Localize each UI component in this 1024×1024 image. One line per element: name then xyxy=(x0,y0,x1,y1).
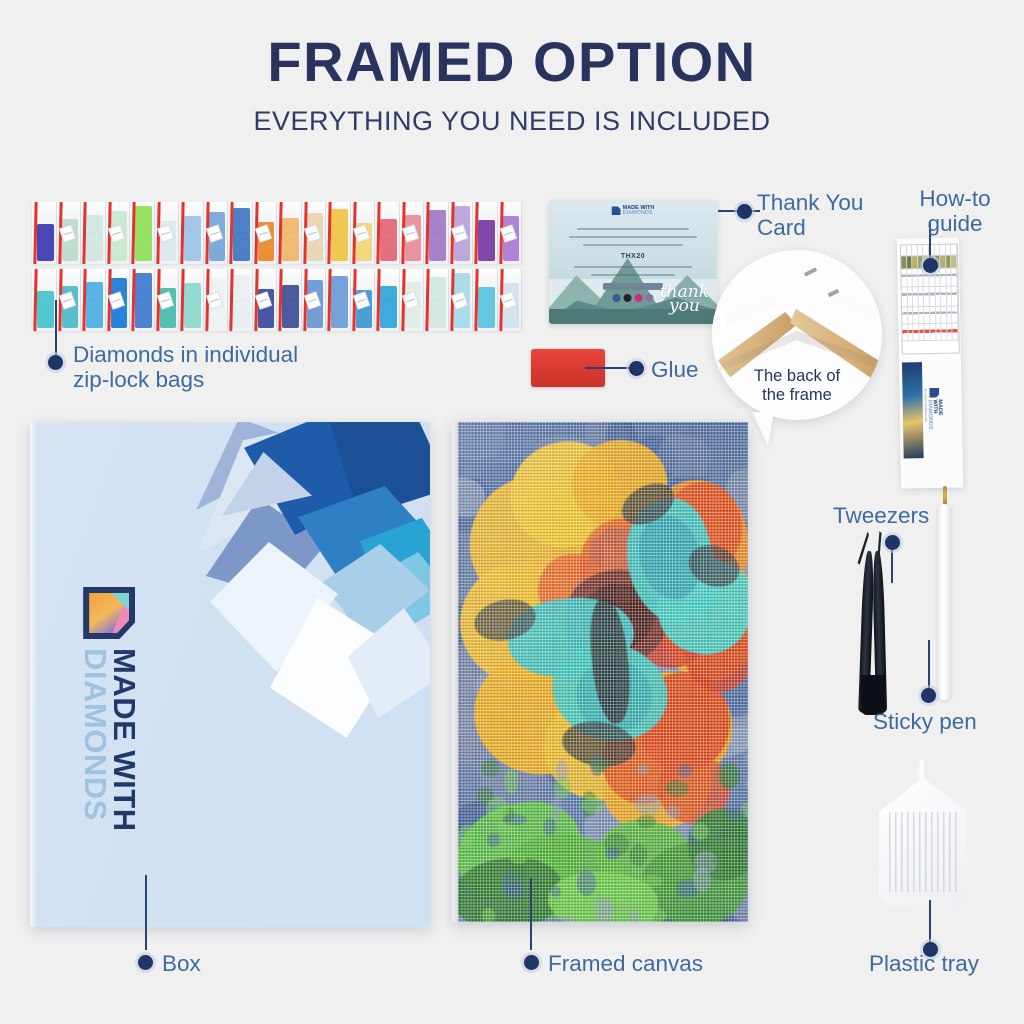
guide-table-cell xyxy=(951,245,957,255)
guide-table-cell xyxy=(952,269,958,286)
zip-lock-bag xyxy=(57,269,82,331)
zip-lock-bag xyxy=(498,202,523,264)
zip-lock-bag xyxy=(375,202,400,264)
callout-label-box: Box xyxy=(162,951,201,976)
zip-lock-bag xyxy=(498,269,523,331)
callout-label-thank-you: Thank You Card xyxy=(757,190,897,240)
card-text-line-5 xyxy=(591,274,675,276)
zip-lock-bag xyxy=(351,269,376,331)
guide-table-row xyxy=(902,287,958,308)
sticky-pen xyxy=(938,486,958,706)
callout-label-tray: Plastic tray xyxy=(869,951,979,976)
diamond-logo-icon xyxy=(929,388,939,398)
instagram-icon xyxy=(635,294,643,302)
callout-label-canvas: Framed canvas xyxy=(548,951,703,976)
zip-lock-bag xyxy=(81,202,106,264)
guide-table-cell xyxy=(953,324,959,340)
zip-lock-bag xyxy=(302,269,327,331)
box-brand-line1: MADE WITH xyxy=(109,648,138,832)
zip-lock-bag xyxy=(473,269,498,331)
callout-dot-tweezers xyxy=(885,535,900,550)
infographic-canvas: FRAMED OPTION EVERYTHING YOU NEED IS INC… xyxy=(0,0,1024,1024)
diamond-logo-icon xyxy=(612,206,621,215)
zip-lock-bag xyxy=(424,202,449,264)
zip-lock-bag xyxy=(253,269,278,331)
pinterest-icon xyxy=(646,294,654,302)
zip-lock-bag xyxy=(302,202,327,264)
zip-lock-bag xyxy=(277,269,302,331)
zip-lock-bag xyxy=(473,202,498,264)
zip-lock-bag xyxy=(32,202,57,264)
diamond-logo-icon xyxy=(83,587,135,639)
zip-lock-bag xyxy=(155,269,180,331)
guide-handle: @madewithdiamonds xyxy=(923,388,928,422)
leader-line-glue xyxy=(585,367,633,369)
how-to-guide: MADE WITH DIAMONDS @madewithdiamonds xyxy=(897,237,963,488)
callout-label-glue: Glue xyxy=(651,357,699,382)
zip-lock-bag xyxy=(449,269,474,331)
callout-dot-thank-you xyxy=(737,204,752,219)
plastic-tray xyxy=(876,760,976,920)
product-box: MADE WITH DIAMONDS xyxy=(30,422,430,927)
zip-lock-bag xyxy=(400,269,425,331)
callout-label-diamonds: Diamonds in individual zip-lock bags xyxy=(73,342,373,392)
callout-label-sticky-pen: Sticky pen xyxy=(873,709,977,734)
leader-line-tweezers xyxy=(891,545,893,583)
guide-brand-line1: MADE WITH xyxy=(932,399,942,430)
leader-line-canvas xyxy=(530,878,532,950)
box-brand-line2: DIAMONDS xyxy=(80,648,109,832)
guide-table-cell xyxy=(952,307,958,323)
guide-table-row xyxy=(902,307,958,325)
thank-you-card: MADE WITH DIAMONDS THX20 thankyou xyxy=(549,200,717,324)
guide-table-row xyxy=(902,323,958,341)
zip-lock-bag xyxy=(326,202,351,264)
zip-lock-bag xyxy=(400,202,425,264)
zip-lock-bag xyxy=(253,202,278,264)
leader-line-diamonds xyxy=(55,300,57,358)
zip-lock-bag xyxy=(228,202,253,264)
zip-lock-bag xyxy=(57,202,82,264)
card-brand-logo: MADE WITH DIAMONDS xyxy=(612,206,655,216)
card-promo-code: THX20 xyxy=(621,253,645,260)
zip-lock-bag xyxy=(130,202,155,264)
framed-canvas xyxy=(452,422,748,922)
zip-lock-bag xyxy=(351,202,376,264)
zip-lock-bag xyxy=(228,269,253,331)
zip-lock-bag xyxy=(277,202,302,264)
zip-lock-bag xyxy=(106,202,131,264)
zip-lock-bag xyxy=(326,269,351,331)
zip-lock-bag xyxy=(375,269,400,331)
frame-back-label: The back of the frame xyxy=(712,367,882,404)
zip-lock-bag xyxy=(204,202,229,264)
card-text-line-4 xyxy=(574,266,692,268)
guide-artwork-thumbnail xyxy=(902,362,924,458)
card-social-icons xyxy=(613,294,654,302)
tweezers xyxy=(855,525,915,715)
page-subtitle: EVERYTHING YOU NEED IS INCLUDED xyxy=(0,108,1024,135)
callout-dot-sticky-pen xyxy=(921,688,936,703)
guide-table-cell xyxy=(952,287,958,306)
box-brand-logo: MADE WITH DIAMONDS xyxy=(80,587,138,832)
facebook-icon xyxy=(613,294,621,302)
card-thank-you-script: thankyou xyxy=(660,286,709,314)
card-text-line-2 xyxy=(569,236,697,238)
zip-lock-bag xyxy=(81,269,106,331)
card-handle-pill xyxy=(603,283,663,290)
callout-dot-canvas xyxy=(524,955,539,970)
zip-lock-bag-row-2 xyxy=(32,269,522,331)
leader-line-box xyxy=(145,875,147,950)
callout-label-tweezers: Tweezers xyxy=(833,503,929,528)
zip-lock-bag-row-1 xyxy=(32,202,522,264)
card-brand-line2: DIAMONDS xyxy=(623,211,655,216)
card-text-line-1 xyxy=(577,228,689,230)
callout-label-how-to: How-to guide xyxy=(890,186,1020,236)
leader-line-tray xyxy=(929,900,931,945)
callout-dot-box xyxy=(138,955,153,970)
zip-lock-bag xyxy=(179,202,204,264)
page-title: FRAMED OPTION xyxy=(0,34,1024,90)
leader-line-sticky-pen xyxy=(928,640,930,688)
zip-lock-bag xyxy=(130,269,155,331)
callout-dot-how-to xyxy=(923,258,938,273)
zip-lock-bag xyxy=(32,269,57,331)
zip-lock-bag xyxy=(204,269,229,331)
card-text-line-3 xyxy=(583,244,683,246)
zip-lock-bag xyxy=(106,269,131,331)
zip-lock-bag xyxy=(179,269,204,331)
callout-dot-diamonds xyxy=(48,355,63,370)
zip-lock-bag xyxy=(424,269,449,331)
zip-lock-bag xyxy=(449,202,474,264)
guide-table-cell xyxy=(951,256,957,268)
tiktok-icon xyxy=(624,294,632,302)
callout-dot-glue xyxy=(629,361,644,376)
zip-lock-bag xyxy=(155,202,180,264)
